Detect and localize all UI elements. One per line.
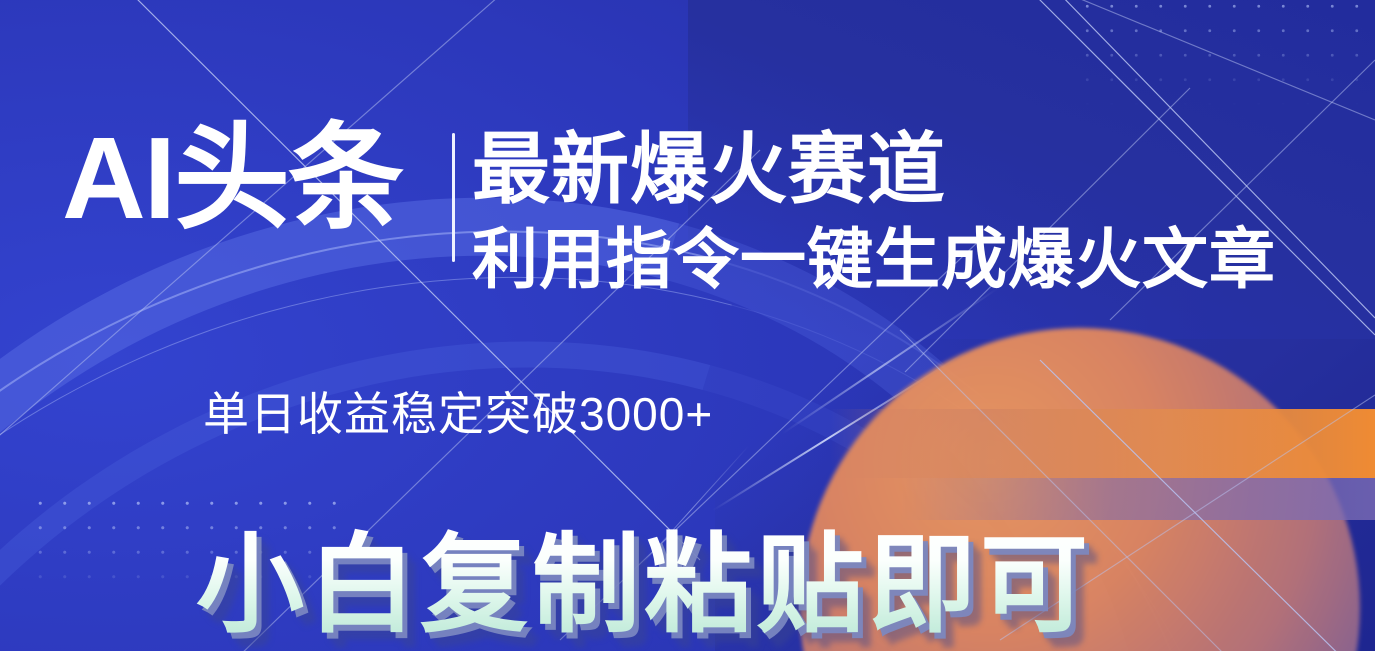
subtitle-text: 单日收益稳定突破3000+: [203, 386, 713, 442]
headline-line-2: 利用指令一键生成爆火文章: [472, 217, 1352, 301]
content-layer: AI头条 最新爆火赛道 利用指令一键生成爆火文章 单日收益稳定突破3000+ 小…: [0, 0, 1375, 651]
footer-callout-text: 小白复制粘贴即可: [196, 524, 1092, 646]
brand-title: AI头条: [62, 120, 402, 236]
promo-poster: AI头条 最新爆火赛道 利用指令一键生成爆火文章 单日收益稳定突破3000+ 小…: [0, 0, 1375, 651]
headline-line-1: 最新爆火赛道: [472, 127, 1352, 211]
headline-block: 最新爆火赛道 利用指令一键生成爆火文章: [472, 127, 1352, 301]
vertical-divider: [452, 133, 455, 262]
